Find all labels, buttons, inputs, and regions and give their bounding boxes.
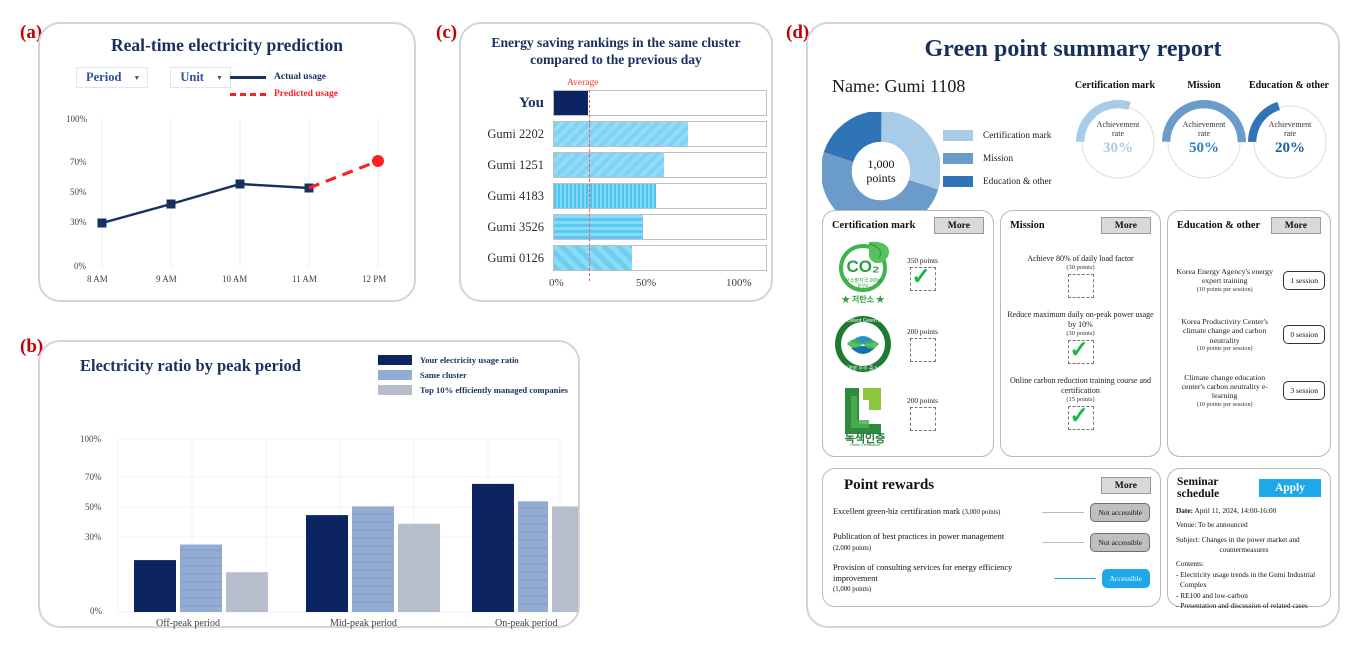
- svg-text:녹색경영 우수 중소기업: 녹색경영 우수 중소기업: [839, 365, 888, 372]
- ranking-label: Gumi 0126: [467, 251, 553, 266]
- seminar-content-line: - RE100 and low-carbon: [1176, 591, 1322, 601]
- certification-card-title: Certification mark: [832, 220, 915, 231]
- ranking-row: Gumi 3526: [467, 214, 767, 240]
- y-axis-tick: 0%: [90, 606, 102, 616]
- seminar-venue-value: To be announced: [1198, 520, 1248, 529]
- seminar-schedule-card: Seminar schedule Apply Date: April 11, 2…: [1167, 468, 1331, 607]
- gauge-value: 20%: [1248, 140, 1332, 157]
- seminar-content-line: Complex: [1176, 580, 1322, 590]
- mission-item-points: (15 points): [1007, 396, 1154, 403]
- gauge-title-mission: Mission: [1160, 80, 1248, 91]
- seminar-apply-button[interactable]: Apply: [1259, 479, 1321, 497]
- gauge-title-education: Education & other: [1236, 80, 1342, 91]
- x-axis-tick: 9 AM: [156, 274, 177, 284]
- gauge-label: rate: [1248, 129, 1332, 138]
- education-item-sub: (10 points per session): [1173, 401, 1276, 408]
- ranking-label: Gumi 4183: [467, 189, 553, 204]
- reward-item: Excellent green-biz certification mark (…: [823, 500, 1160, 525]
- x-axis-tick: 50%: [636, 277, 656, 289]
- y-axis-tick: 0%: [74, 261, 86, 271]
- ranking-bar: [554, 91, 588, 115]
- reward-label: Excellent green-biz certification mark: [833, 507, 960, 516]
- ranking-bar: [554, 215, 643, 239]
- seminar-venue-label: Venue:: [1176, 520, 1196, 529]
- ranking-track: [553, 183, 767, 209]
- reward-status-button[interactable]: Not accessible: [1090, 533, 1150, 552]
- svg-text:환경부: 환경부: [857, 282, 868, 288]
- average-annotation-label: Average: [567, 78, 598, 88]
- x-axis-tick: 10 AM: [222, 274, 247, 284]
- education-item-sub: (10 points per session): [1173, 345, 1276, 352]
- connector-line: [1042, 542, 1084, 543]
- mission-checkbox[interactable]: ✓: [1068, 340, 1094, 364]
- x-axis-tick: On-peak period: [495, 618, 557, 629]
- mission-item-text: Achieve 80% of daily load factor: [1007, 254, 1154, 264]
- rewards-card-title: Point rewards: [832, 477, 934, 494]
- certification-points: 200 points: [907, 396, 938, 405]
- ranking-row: Gumi 0126: [467, 245, 767, 271]
- certification-checkbox[interactable]: ✓: [910, 267, 936, 291]
- mission-item-points: (30 points): [1007, 264, 1154, 271]
- average-dashed-line: [589, 90, 590, 281]
- seminar-subject-line: Subject: Changes in the power market and: [1176, 535, 1322, 545]
- mission-item: Achieve 80% of daily load factor (30 poi…: [1001, 252, 1160, 300]
- ranking-track: [553, 214, 767, 240]
- y-axis-tick: 100%: [66, 114, 87, 124]
- reward-item: Publication of best practices in power m…: [823, 529, 1160, 556]
- legend-label: Education & other: [983, 177, 1052, 187]
- connector-line: [1054, 578, 1096, 579]
- gauge-title-certification: Certification mark: [1060, 80, 1170, 91]
- seminar-subject-line2: countermeasures: [1176, 545, 1322, 555]
- education-sessions-button[interactable]: 0 session: [1283, 325, 1325, 344]
- panel-a-line-chart: [40, 24, 418, 304]
- y-axis-tick: 70%: [70, 157, 87, 167]
- company-name-label: Name: Gumi 1108: [832, 76, 965, 97]
- ranking-row: Gumi 2202: [467, 121, 767, 147]
- ranking-label: You: [467, 95, 553, 112]
- y-axis-tick: 100%: [80, 434, 101, 444]
- x-axis-tick: 8 AM: [87, 274, 108, 284]
- point-rewards-card: Point rewards More Excellent green-biz c…: [822, 468, 1161, 607]
- gauge-label: rate: [1076, 129, 1160, 138]
- education-card-title: Education & other: [1177, 220, 1260, 231]
- panel-c-tag: (c): [436, 22, 457, 44]
- gauge-label: Achievement: [1076, 120, 1160, 129]
- gauge-value: 30%: [1076, 140, 1160, 157]
- panel-realtime-prediction: Real-time electricity prediction Period …: [38, 22, 416, 302]
- reward-item: Provision of consulting services for ene…: [823, 560, 1160, 598]
- ranking-row: You: [467, 90, 767, 116]
- svg-text:Excellent Green Biz: Excellent Green Biz: [841, 318, 885, 324]
- x-axis-tick: Mid-peak period: [330, 618, 397, 629]
- mission-item-points: (30 points): [1007, 330, 1154, 337]
- education-item: Korea Productivity Center's climate chan…: [1168, 314, 1330, 355]
- reward-status-button[interactable]: Accessible: [1102, 569, 1151, 588]
- reward-points: (2,000 points): [833, 545, 871, 552]
- gauge-center-certification: Achievement rate 30%: [1076, 120, 1160, 157]
- check-icon: ✓: [1070, 404, 1089, 427]
- reward-points: (1,000 points): [833, 586, 871, 593]
- education-item-text: Korea Productivity Center's climate chan…: [1173, 317, 1276, 345]
- education-card: Education & other More Korea Energy Agen…: [1167, 210, 1331, 457]
- reward-text: Publication of best practices in power m…: [833, 532, 1036, 553]
- reward-text: Provision of consulting services for ene…: [833, 563, 1048, 595]
- panel-c-title: Energy saving rankings in the same clust…: [461, 34, 771, 68]
- svg-text:CO₂: CO₂: [846, 257, 879, 276]
- reward-status-button[interactable]: Not accessible: [1090, 503, 1150, 522]
- reward-label: Provision of consulting services for ene…: [833, 563, 1012, 583]
- panel-d-title: Green point summary report: [808, 36, 1338, 63]
- x-axis-tick: 11 AM: [292, 274, 317, 284]
- certification-checkbox[interactable]: [910, 407, 936, 431]
- gauge-label: Achievement: [1162, 120, 1246, 129]
- y-axis-tick: 30%: [85, 532, 102, 542]
- gauge-label: Achievement: [1248, 120, 1332, 129]
- x-axis-tick: 12 PM: [362, 274, 386, 284]
- x-axis-tick: Off-peak period: [156, 618, 220, 629]
- y-axis-tick: 50%: [85, 502, 102, 512]
- gauge-value: 50%: [1162, 140, 1246, 157]
- education-item-text: Korea Energy Agency's energy expert trai…: [1173, 267, 1276, 286]
- legend-label: Mission: [983, 154, 1013, 164]
- mission-item-text: Reduce maximum daily on-peak power usage…: [1007, 310, 1154, 330]
- ranking-track: [553, 90, 767, 116]
- certification-checkbox[interactable]: [910, 338, 936, 362]
- education-sessions-button[interactable]: 1 session: [1283, 271, 1325, 290]
- donut-legend-item-mission: Mission: [943, 153, 1052, 164]
- mission-card-title: Mission: [1010, 220, 1045, 231]
- y-axis-tick: 30%: [70, 217, 87, 227]
- co2-carbon-footprint-logo: CO₂ 탄소발자국 000g 환경부 ★ 저탄소 ★: [829, 238, 903, 308]
- panel-b-bar-chart: [40, 342, 582, 630]
- certification-card-header: Certification mark More: [823, 211, 993, 234]
- seminar-content-line: - Electricity usage trends in the Gumi I…: [1176, 570, 1322, 580]
- donut-points-unit: points: [866, 171, 895, 185]
- mission-item: Reduce maximum daily on-peak power usage…: [1001, 308, 1160, 366]
- education-card-header: Education & other More: [1168, 211, 1330, 234]
- donut-points-value: 1,000: [868, 157, 895, 171]
- legend-swatch: [943, 153, 973, 164]
- education-item-sub: (10 points per session): [1173, 286, 1276, 293]
- gauge-center-mission: Achievement rate 50%: [1162, 120, 1246, 157]
- panel-electricity-ratio: Electricity ratio by peak period Your el…: [38, 340, 580, 628]
- mission-item: Online carbon reduction training course …: [1001, 374, 1160, 432]
- mission-checkbox[interactable]: [1068, 274, 1094, 298]
- donut-legend-item-education: Education & other: [943, 176, 1052, 187]
- x-axis-tick: 0%: [549, 277, 564, 289]
- seminar-subject-label: Subject:: [1176, 535, 1200, 544]
- certification-item: CO₂ 탄소발자국 000g 환경부 ★ 저탄소 ★ 350 points ✓: [823, 236, 993, 310]
- seminar-card-title: Seminar schedule: [1177, 476, 1259, 500]
- rewards-card-header: Point rewards More: [823, 469, 1160, 494]
- connector-line: [1042, 512, 1084, 513]
- education-more-button[interactable]: More: [1271, 217, 1321, 234]
- certification-item: Excellent Green Biz 녹색경영 우수 중소기업 200 poi…: [823, 310, 993, 378]
- ranking-bar: [554, 122, 688, 146]
- ranking-bar: [554, 184, 656, 208]
- gauge-center-education: Achievement rate 20%: [1248, 120, 1332, 157]
- mission-checkbox[interactable]: ✓: [1068, 406, 1094, 430]
- donut-legend-item-certification: Certification mark: [943, 130, 1052, 141]
- y-axis-tick: 50%: [70, 187, 87, 197]
- seminar-card-header: Seminar schedule Apply: [1168, 469, 1330, 500]
- check-icon: ✓: [912, 265, 931, 288]
- seminar-date-value: April 11, 2024, 14:00-16:00: [1194, 506, 1276, 515]
- mission-card-header: Mission More: [1001, 211, 1160, 234]
- mission-item-text: Online carbon reduction training course …: [1007, 376, 1154, 396]
- reward-text: Excellent green-biz certification mark (…: [833, 507, 1036, 518]
- seminar-venue-line: Venue: To be announced: [1176, 520, 1322, 530]
- ranking-label: Gumi 2202: [467, 127, 553, 142]
- seminar-contents-label: Contents:: [1176, 559, 1322, 569]
- reward-points: (3,000 points): [962, 509, 1000, 516]
- mission-card: Mission More Achieve 80% of daily load f…: [1000, 210, 1161, 457]
- seminar-date-line: Date: April 11, 2024, 14:00-16:00: [1176, 506, 1322, 516]
- legend-swatch: [943, 176, 973, 187]
- ranking-track: [553, 245, 767, 271]
- seminar-subject-value: Changes in the power market and: [1202, 535, 1300, 544]
- excellent-green-biz-logo: Excellent Green Biz 녹색경영 우수 중소기업: [829, 312, 903, 376]
- green-certification-logo: 녹색인증 Green Certification: [829, 380, 903, 446]
- education-sessions-button[interactable]: 3 session: [1283, 381, 1325, 400]
- certification-more-button[interactable]: More: [934, 217, 984, 234]
- rewards-more-button[interactable]: More: [1101, 477, 1151, 494]
- ranking-label: Gumi 3526: [467, 220, 553, 235]
- check-icon: ✓: [1070, 338, 1089, 361]
- ranking-bar: [554, 246, 632, 270]
- ranking-row: Gumi 1251: [467, 152, 767, 178]
- panel-energy-saving-rankings: Energy saving rankings in the same clust…: [459, 22, 773, 302]
- svg-text:★ 저탄소 ★: ★ 저탄소 ★: [842, 294, 885, 304]
- ranking-row: Gumi 4183: [467, 183, 767, 209]
- donut-legend: Certification mark Mission Education & o…: [943, 130, 1052, 199]
- ranking-bar: [554, 153, 664, 177]
- panel-green-point-summary: Green point summary report Name: Gumi 11…: [806, 22, 1340, 628]
- education-item: Climate change education center's carbon…: [1168, 370, 1330, 411]
- ranking-label: Gumi 1251: [467, 158, 553, 173]
- education-item-text: Climate change education center's carbon…: [1173, 373, 1276, 401]
- legend-swatch: [943, 130, 973, 141]
- education-item: Korea Energy Agency's energy expert trai…: [1168, 264, 1330, 296]
- reward-label: Publication of best practices in power m…: [833, 532, 1004, 541]
- gauge-label: rate: [1162, 129, 1246, 138]
- certification-item: 녹색인증 Green Certification 200 points: [823, 378, 993, 448]
- x-axis-tick: 100%: [726, 277, 752, 289]
- certification-points: 200 points: [907, 327, 938, 336]
- seminar-date-label: Date:: [1176, 506, 1193, 515]
- certification-mark-card: Certification mark More CO₂ 탄소발자국 000g 환…: [822, 210, 994, 457]
- ranking-track: [553, 121, 767, 147]
- y-axis-tick: 70%: [85, 472, 102, 482]
- legend-label: Certification mark: [983, 131, 1051, 141]
- svg-text:Green Certification: Green Certification: [850, 443, 880, 446]
- seminar-content-line: - Presentation and discussion of related…: [1176, 601, 1322, 611]
- mission-more-button[interactable]: More: [1101, 217, 1151, 234]
- ranking-track: [553, 152, 767, 178]
